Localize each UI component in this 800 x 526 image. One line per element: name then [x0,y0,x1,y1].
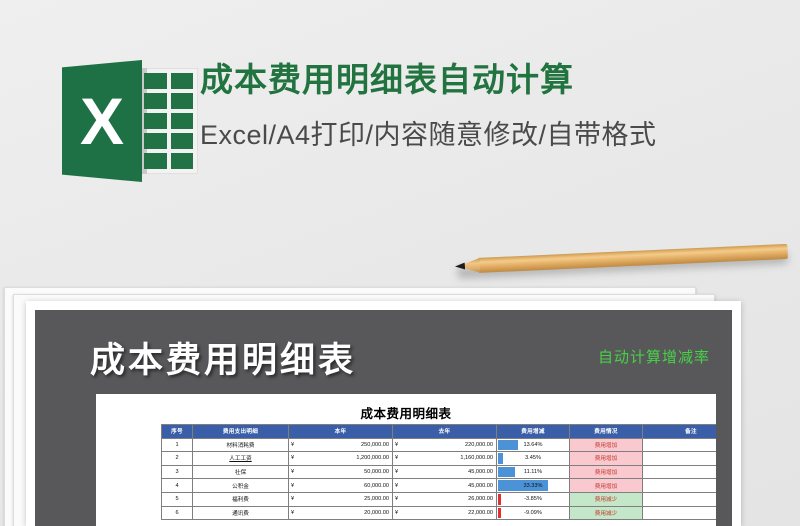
cell-memo[interactable] [643,465,717,479]
cell-memo[interactable] [643,492,717,506]
cell-last-year[interactable]: ¥26,000.00 [393,492,497,506]
cell-item[interactable]: 福利费 [193,492,289,506]
page-root: X 成本费用明细表自动计算 Excel/A4打印/内容随意修改/自带格式 成本费… [0,0,800,526]
cell-this-year[interactable]: ¥20,000.00 [289,506,393,520]
preview-note: 自动计算增减率 [598,346,710,367]
pencil-icon [455,242,789,277]
cell-status[interactable]: 费用增加 [570,479,643,493]
cell-status[interactable]: 费用增加 [570,465,643,479]
cell-last-year[interactable]: ¥220,000.00 [393,438,497,452]
preview-backdrop: 成本费用明细表 自动计算增减率 成本费用明细表 序号 费用支出明细 本年 去年 … [35,310,732,526]
cell-memo[interactable] [643,452,717,466]
preview-card[interactable]: 成本费用明细表 自动计算增减率 成本费用明细表 序号 费用支出明细 本年 去年 … [26,301,741,526]
excel-logo-letter: X [62,60,142,182]
col-header-change[interactable]: 费用增减 [497,425,570,439]
table-row[interactable]: 4公积金¥60,000.00¥45,000.0033.33%费用增加 [162,479,717,493]
cell-change[interactable]: 11.11% [497,465,570,479]
cell-this-year[interactable]: ¥60,000.00 [289,479,393,493]
cell-item[interactable]: 公积金 [193,479,289,493]
cell-item[interactable]: 人工工资 [193,452,289,466]
cell-last-year[interactable]: ¥45,000.00 [393,479,497,493]
cell-item[interactable]: 社保 [193,465,289,479]
table-row[interactable]: 1材料消耗费¥250,000.00¥220,000.0013.64%费用增加 [162,438,717,452]
cell-item[interactable]: 材料消耗费 [193,438,289,452]
cell-memo[interactable] [643,506,717,520]
banner-text-block: 成本费用明细表自动计算 Excel/A4打印/内容随意修改/自带格式 [200,60,780,152]
cell-no[interactable]: 4 [162,479,193,493]
table-row[interactable]: 2人工工资¥1,200,000.00¥1,160,000.003.45%费用增加 [162,452,717,466]
table-body: 1材料消耗费¥250,000.00¥220,000.0013.64%费用增加 2… [162,438,717,520]
cell-no[interactable]: 6 [162,506,193,520]
col-header-item[interactable]: 费用支出明细 [193,425,289,439]
table-row[interactable]: 6通讯费¥20,000.00¥22,000.00-9.09%费用减少 [162,506,717,520]
cell-change[interactable]: 13.64% [497,438,570,452]
cell-item[interactable]: 通讯费 [193,506,289,520]
col-header-this-year[interactable]: 本年 [289,425,393,439]
col-header-no[interactable]: 序号 [162,425,193,439]
table-header-row: 序号 费用支出明细 本年 去年 费用增减 费用情况 备注 [162,425,717,439]
cell-no[interactable]: 3 [162,465,193,479]
table-header: 序号 费用支出明细 本年 去年 费用增减 费用情况 备注 [162,425,717,439]
cell-last-year[interactable]: ¥22,000.00 [393,506,497,520]
cell-status[interactable]: 费用增加 [570,438,643,452]
table-row[interactable]: 5福利费¥25,000.00¥26,000.00-3.85%费用减少 [162,492,717,506]
cell-this-year[interactable]: ¥50,000.00 [289,465,393,479]
worksheet[interactable]: 成本费用明细表 序号 费用支出明细 本年 去年 费用增减 费用情况 备注 [96,394,716,526]
cell-change[interactable]: 33.33% [497,479,570,493]
cell-this-year[interactable]: ¥25,000.00 [289,492,393,506]
cell-status[interactable]: 费用增加 [570,452,643,466]
col-header-status[interactable]: 费用情况 [570,425,643,439]
cost-detail-table[interactable]: 序号 费用支出明细 本年 去年 费用增减 费用情况 备注 1材料消耗费¥250,… [161,424,716,520]
excel-logo-grid [144,73,193,169]
cell-no[interactable]: 2 [162,452,193,466]
banner: X 成本费用明细表自动计算 Excel/A4打印/内容随意修改/自带格式 [0,0,800,240]
cell-this-year[interactable]: ¥250,000.00 [289,438,393,452]
col-header-memo[interactable]: 备注 [643,425,717,439]
cell-status[interactable]: 费用减少 [570,492,643,506]
page-subtitle: Excel/A4打印/内容随意修改/自带格式 [200,113,780,152]
page-title: 成本费用明细表自动计算 [200,60,780,100]
col-header-last-year[interactable]: 去年 [393,425,497,439]
worksheet-title: 成本费用明细表 [96,403,716,422]
excel-logo-icon: X [62,57,198,185]
cell-change[interactable]: -9.09% [497,506,570,520]
cell-change[interactable]: 3.45% [497,452,570,466]
cell-memo[interactable] [643,479,717,493]
cell-change[interactable]: -3.85% [497,492,570,506]
table-row[interactable]: 3社保¥50,000.00¥45,000.0011.11%费用增加 [162,465,717,479]
cell-no[interactable]: 5 [162,492,193,506]
cell-memo[interactable] [643,438,717,452]
cell-last-year[interactable]: ¥1,160,000.00 [393,452,497,466]
cell-this-year[interactable]: ¥1,200,000.00 [289,452,393,466]
cell-last-year[interactable]: ¥45,000.00 [393,465,497,479]
preview-heading: 成本费用明细表 [90,332,356,383]
cell-status[interactable]: 费用减少 [570,506,643,520]
cell-no[interactable]: 1 [162,438,193,452]
